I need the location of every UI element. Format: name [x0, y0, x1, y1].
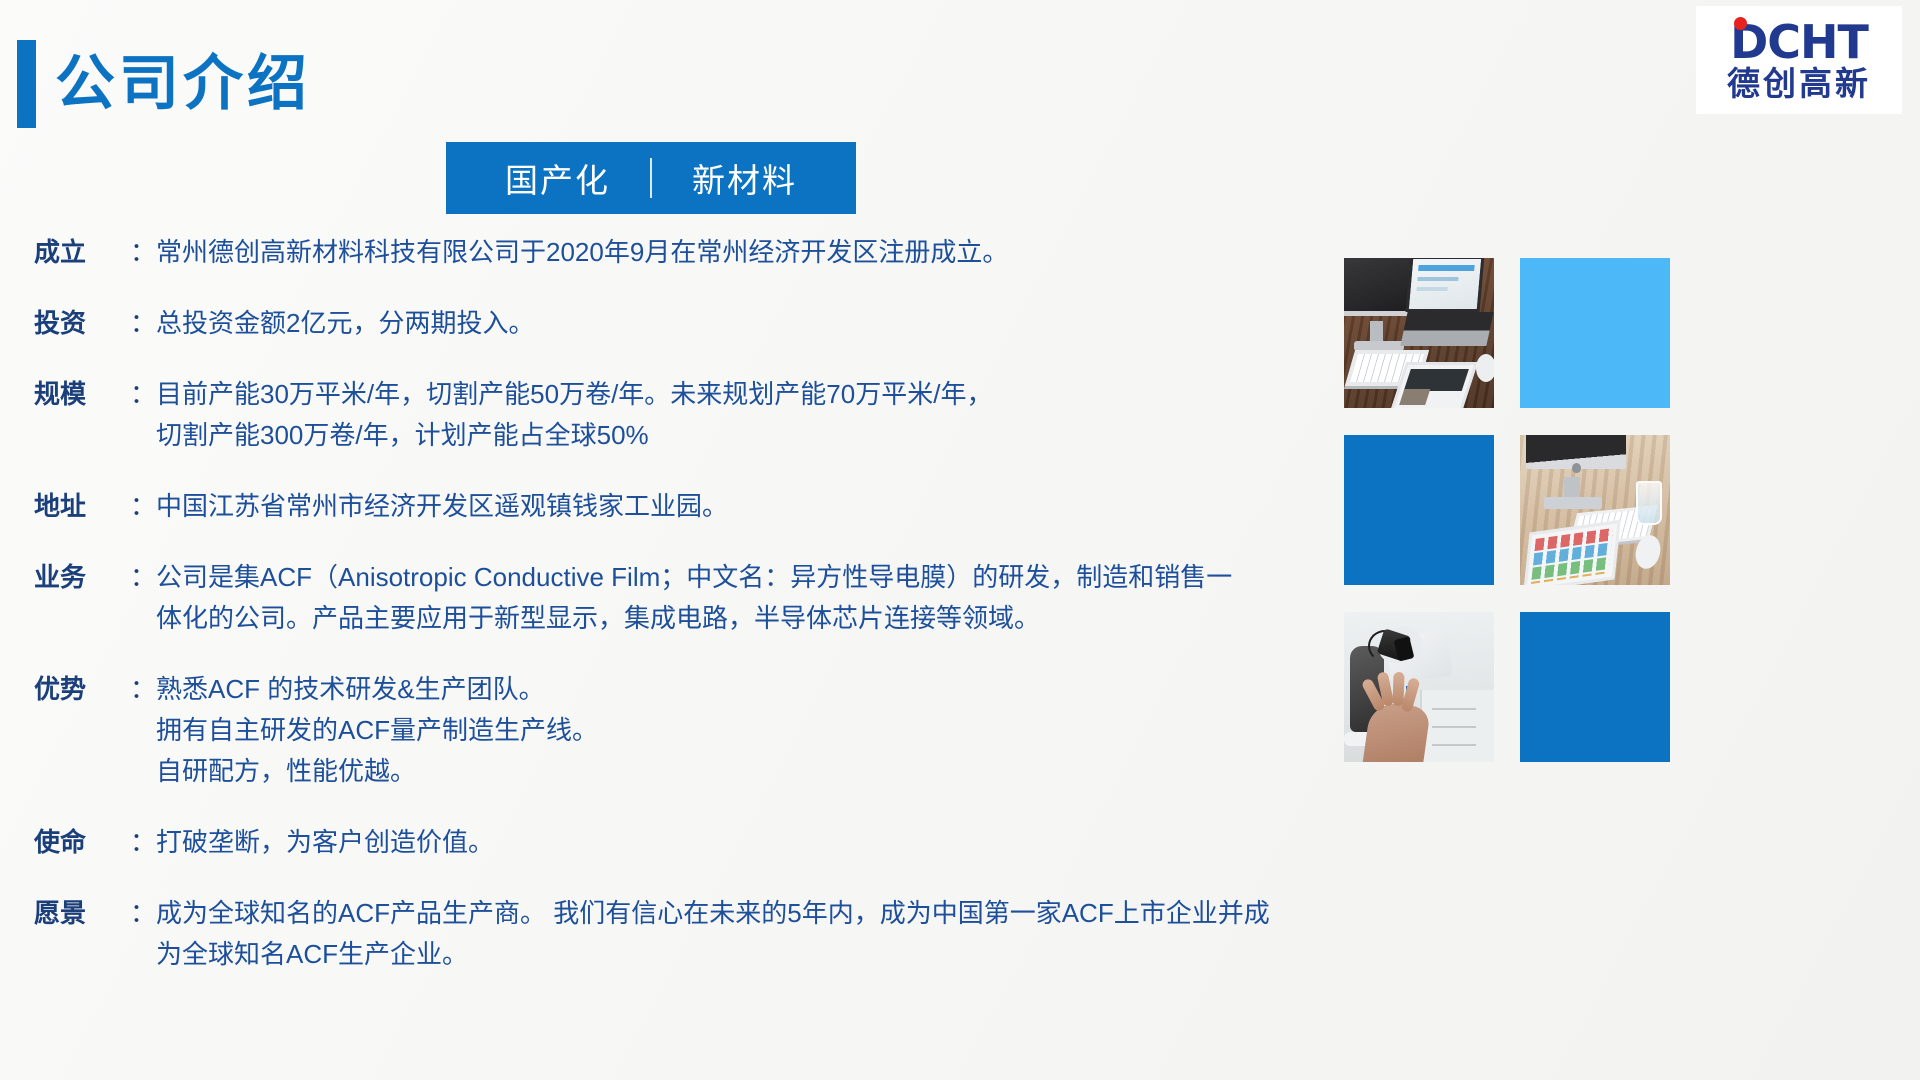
info-label: 投资 — [34, 303, 130, 344]
info-line: 公司是集ACF（Anisotropic Conductive Film；中文名：… — [156, 557, 1344, 598]
info-value: 公司是集ACF（Anisotropic Conductive Film；中文名：… — [156, 557, 1344, 639]
info-colon: ： — [130, 374, 156, 456]
light-blue-tile — [1520, 258, 1670, 408]
page-title: 公司介绍 — [55, 42, 311, 126]
info-colon: ： — [130, 893, 156, 975]
mouse-icon — [1476, 354, 1494, 382]
info-line: 总投资金额2亿元，分两期投入。 — [156, 303, 1344, 344]
info-line: 自研配方，性能优越。 — [156, 751, 1344, 792]
info-colon: ： — [130, 232, 156, 273]
logo-wordmark-row: DCHT — [1730, 18, 1868, 64]
info-colon: ： — [130, 557, 156, 639]
imac-stand-icon — [1370, 321, 1383, 343]
info-line: 体化的公司。产品主要应用于新型显示，集成电路，半导体芯片连接等领域。 — [156, 598, 1344, 639]
blue-tile — [1520, 612, 1670, 762]
laptop-body-icon — [1400, 312, 1493, 346]
info-row-scale: 规模 ： 目前产能30万平米/年，切割产能50万卷/年。未来规划产能70万平米/… — [34, 374, 1344, 456]
desk-imac-laptop-tablet-photo — [1344, 258, 1494, 408]
slide-stage: 公司介绍 DCHT 德创高新 国产化 新材料 成立 ： 常州德创高新材料科技有限… — [0, 0, 1920, 1080]
info-value: 成为全球知名的ACF产品生产商。 我们有信心在未来的5年内，成为中国第一家ACF… — [156, 893, 1344, 975]
tag-new-materials: 新材料 — [692, 154, 797, 202]
logo-red-dot-icon — [1734, 17, 1747, 30]
gallery-row — [1344, 435, 1696, 585]
info-value: 目前产能30万平米/年，切割产能50万卷/年。未来规划产能70万平米/年， 切割… — [156, 374, 1344, 456]
info-label: 愿景 — [34, 893, 130, 975]
gallery-row — [1344, 258, 1696, 408]
logo-wordmark: DCHT — [1730, 20, 1868, 64]
company-logo: DCHT 德创高新 — [1696, 6, 1902, 114]
info-line: 成为全球知名的ACF产品生产商。 我们有信心在未来的5年内，成为中国第一家ACF… — [156, 893, 1344, 934]
info-value: 打破垄断，为客户创造价值。 — [156, 822, 1344, 863]
info-colon: ： — [130, 669, 156, 792]
apple-logo-icon — [1572, 463, 1581, 473]
info-line: 中国江苏省常州市经济开发区遥观镇钱家工业园。 — [156, 486, 1344, 527]
imac-base-icon — [1544, 497, 1602, 509]
info-row-advantages: 优势 ： 熟悉ACF 的技术研发&生产团队。 拥有自主研发的ACF量产制造生产线… — [34, 669, 1344, 792]
info-line: 常州德创高新材料科技有限公司于2020年9月在常州经济开发区注册成立。 — [156, 232, 1344, 273]
info-colon: ： — [130, 822, 156, 863]
info-row-founded: 成立 ： 常州德创高新材料科技有限公司于2020年9月在常州经济开发区注册成立。 — [34, 232, 1344, 273]
image-gallery — [1344, 258, 1696, 789]
info-colon: ： — [130, 303, 156, 344]
logo-chinese-name: 德创高新 — [1727, 65, 1871, 103]
info-colon: ： — [130, 486, 156, 527]
info-row-business: 业务 ： 公司是集ACF（Anisotropic Conductive Film… — [34, 557, 1344, 639]
info-label: 业务 — [34, 557, 130, 639]
info-line: 打破垄断，为客户创造价值。 — [156, 822, 1344, 863]
info-line: 切割产能300万卷/年，计划产能占全球50% — [156, 415, 1344, 456]
desk-imac-keyboard-tablet-photo — [1520, 435, 1670, 585]
blue-tile — [1344, 435, 1494, 585]
tag-banner: 国产化 新材料 — [446, 142, 856, 214]
info-value: 总投资金额2亿元，分两期投入。 — [156, 303, 1344, 344]
tablet-icon — [1390, 362, 1478, 408]
imac-stand-icon — [1564, 477, 1580, 499]
tag-separator-icon — [650, 158, 652, 198]
info-label: 使命 — [34, 822, 130, 863]
info-line: 熟悉ACF 的技术研发&生产团队。 — [156, 669, 1344, 710]
info-line: 目前产能30万平米/年，切割产能50万卷/年。未来规划产能70万平米/年， — [156, 374, 1344, 415]
company-info-list: 成立 ： 常州德创高新材料科技有限公司于2020年9月在常州经济开发区注册成立。… — [34, 232, 1344, 1005]
info-row-vision: 愿景 ： 成为全球知名的ACF产品生产商。 我们有信心在未来的5年内，成为中国第… — [34, 893, 1344, 975]
info-value: 常州德创高新材料科技有限公司于2020年9月在常州经济开发区注册成立。 — [156, 232, 1344, 273]
water-glass-icon — [1636, 481, 1662, 525]
info-row-address: 地址 ： 中国江苏省常州市经济开发区遥观镇钱家工业园。 — [34, 486, 1344, 527]
info-row-mission: 使命 ： 打破垄断，为客户创造价值。 — [34, 822, 1344, 863]
info-value: 中国江苏省常州市经济开发区遥观镇钱家工业园。 — [156, 486, 1344, 527]
gallery-row — [1344, 612, 1696, 762]
info-label: 优势 — [34, 669, 130, 792]
info-label: 成立 — [34, 232, 130, 273]
info-value: 熟悉ACF 的技术研发&生产团队。 拥有自主研发的ACF量产制造生产线。 自研配… — [156, 669, 1344, 792]
cabinet-icon — [1420, 690, 1494, 762]
title-accent-bar — [17, 40, 36, 128]
info-line: 为全球知名ACF生产企业。 — [156, 934, 1344, 975]
info-line: 拥有自主研发的ACF量产制造生产线。 — [156, 710, 1344, 751]
info-label: 地址 — [34, 486, 130, 527]
info-row-investment: 投资 ： 总投资金额2亿元，分两期投入。 — [34, 303, 1344, 344]
tag-localization: 国产化 — [505, 154, 610, 202]
laptop-screen-icon — [1406, 258, 1485, 312]
clinic-equipment-hand-photo — [1344, 612, 1494, 762]
info-label: 规模 — [34, 374, 130, 456]
